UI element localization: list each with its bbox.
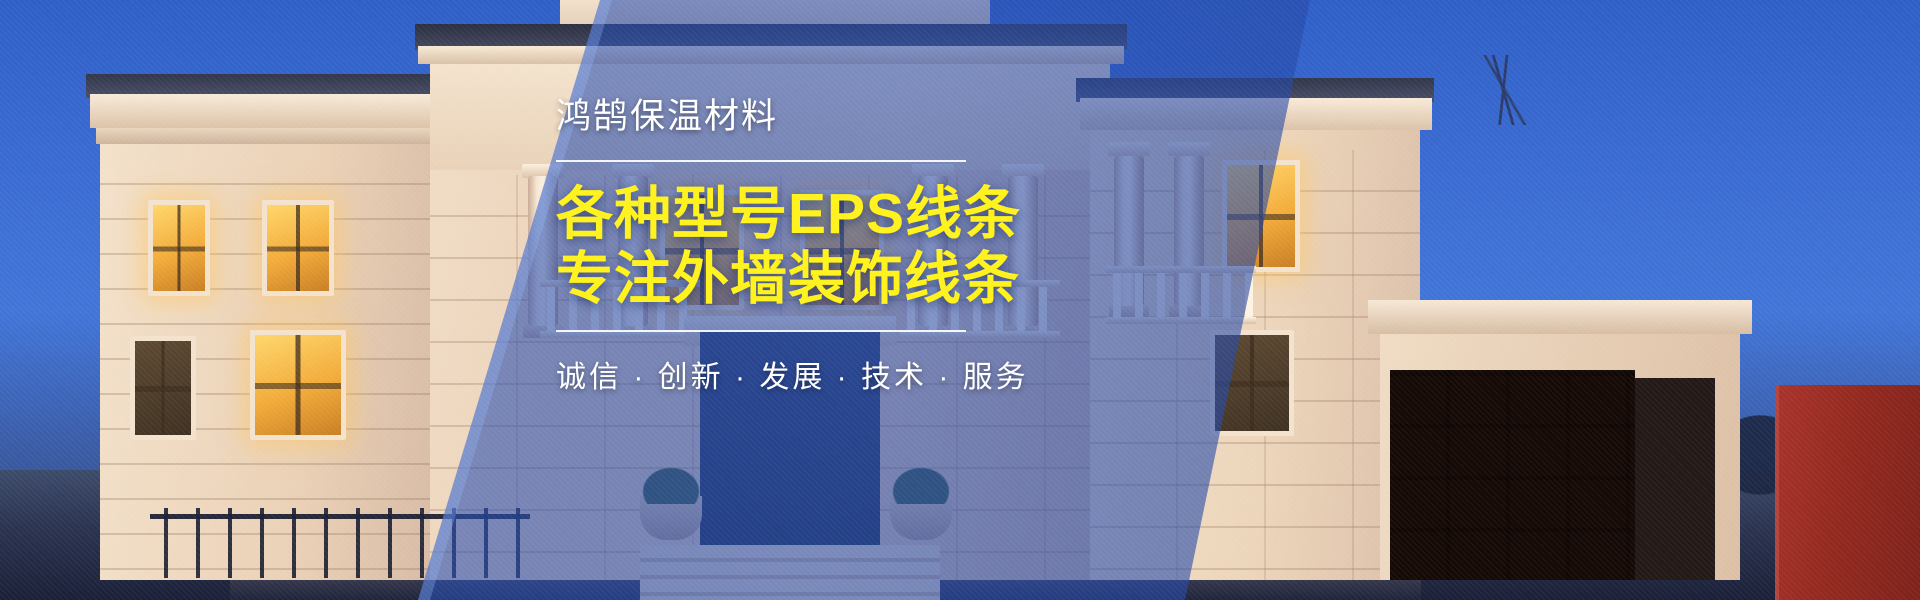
hero-banner: 鸿鹄保温材料 各种型号EPS线条 专注外墙装饰线条 诚信 · 创新 · 发展 ·… <box>0 0 1920 600</box>
window-lit <box>262 200 334 296</box>
left-wing-band <box>96 128 452 144</box>
divider-top <box>556 160 966 162</box>
window-lit <box>148 200 210 296</box>
window <box>130 336 196 440</box>
tagline: 诚信 · 创新 · 发展 · 技术 · 服务 <box>556 352 1026 396</box>
brand-name: 鸿鹄保温材料 <box>556 96 1026 138</box>
bare-branch <box>1420 55 1590 125</box>
garage-roofline <box>1368 300 1752 334</box>
garage-opening <box>1635 378 1715 580</box>
garage-door <box>1390 370 1635 580</box>
red-wall-panel <box>1775 385 1920 600</box>
headline-line-2: 专注外墙装饰线条 <box>556 247 1026 312</box>
left-wing-cornice <box>90 94 456 128</box>
window-lit <box>250 330 346 440</box>
divider-bottom <box>556 330 966 332</box>
headline-line-1: 各种型号EPS线条 <box>556 182 1026 247</box>
banner-text-block: 鸿鹄保温材料 各种型号EPS线条 专注外墙装饰线条 诚信 · 创新 · 发展 ·… <box>556 96 1026 396</box>
